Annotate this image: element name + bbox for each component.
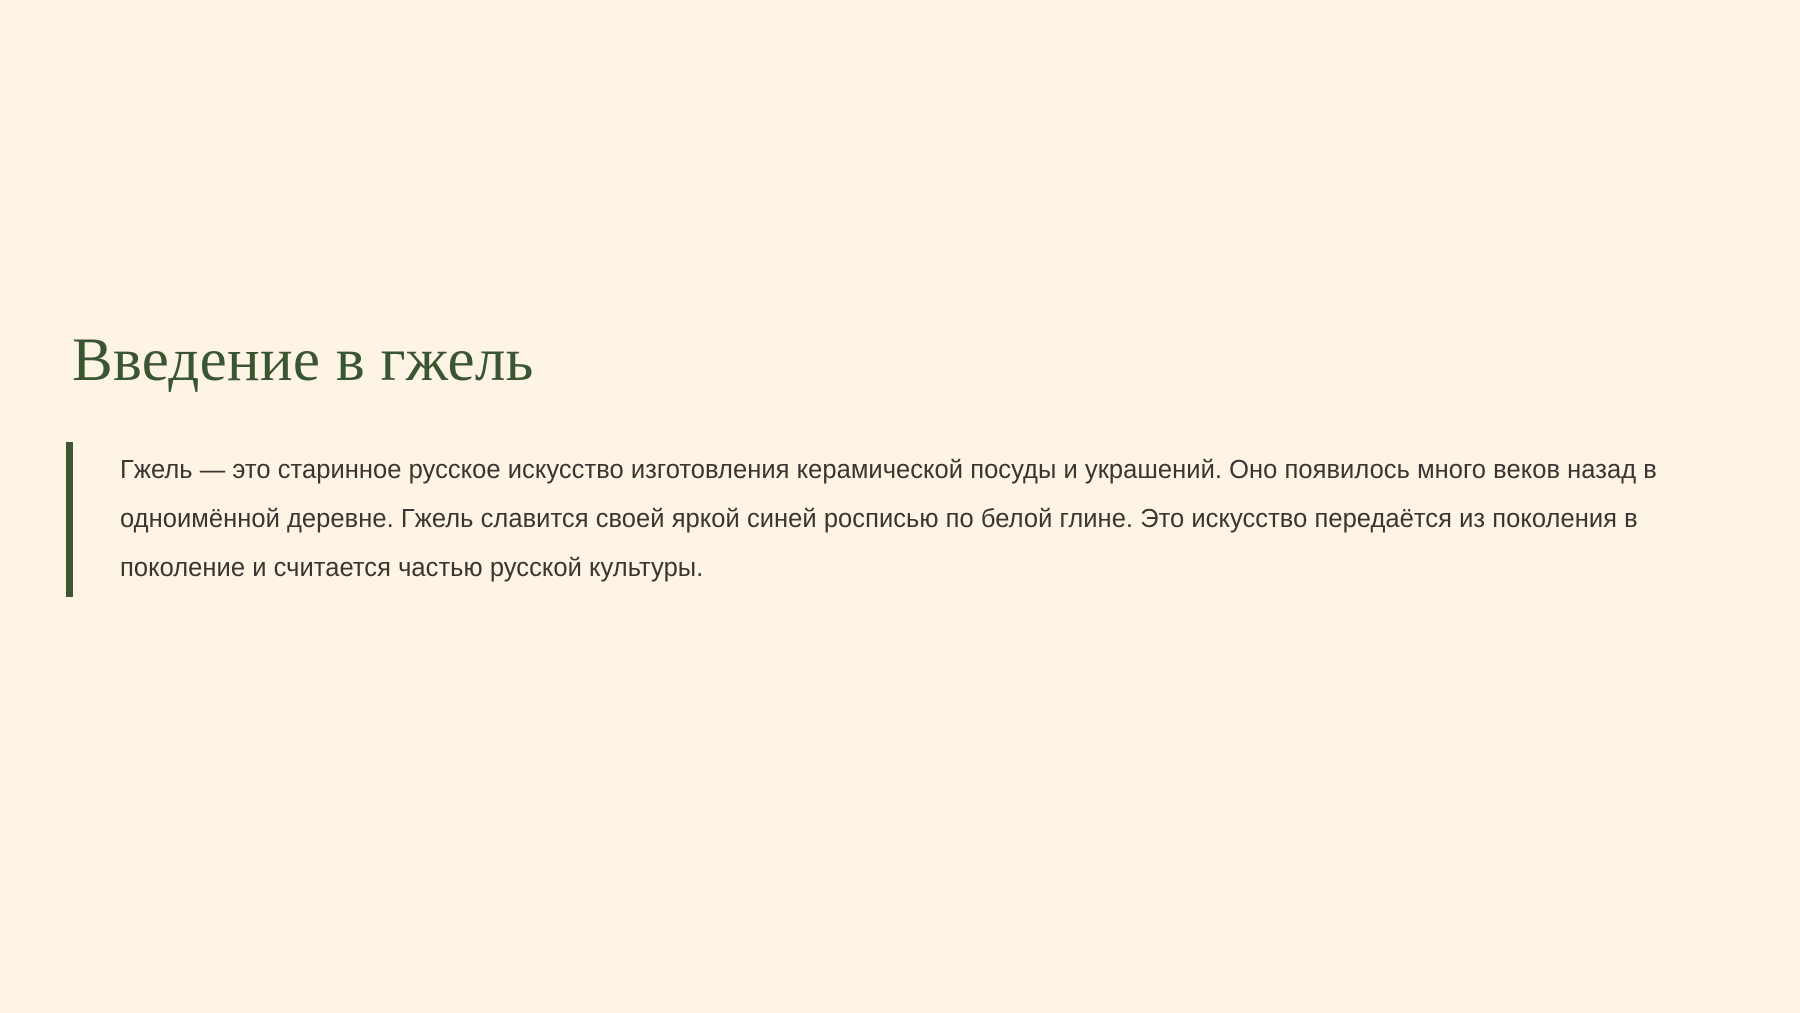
article-content: Введение в гжель Гжель — это старинное р… [66,330,1726,597]
page-root: Введение в гжель Гжель — это старинное р… [0,0,1800,1013]
intro-paragraph: Гжель — это старинное русское искусство … [120,446,1726,593]
intro-blockquote: Гжель — это старинное русское искусство … [66,442,1726,597]
page-title: Введение в гжель [66,330,1726,391]
